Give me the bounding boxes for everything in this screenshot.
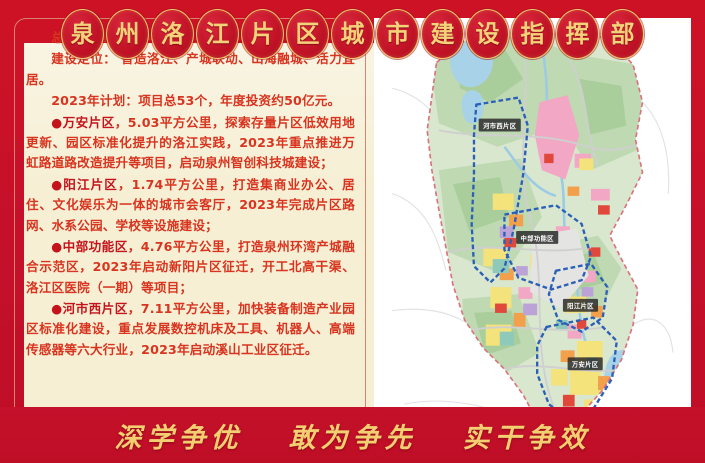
paragraph-wanan-zone: ●万安片区，5.03平方公里，探索存量片区低效用地更新、园区标准化提升的洛江实践… <box>26 113 355 174</box>
title-char-medallion: 部 <box>601 9 644 59</box>
zone-label-wanan: 万安片区 <box>568 357 603 370</box>
slogan-phrase: 深学争优 <box>115 416 243 455</box>
title-char-medallion: 江 <box>196 9 239 59</box>
slogan-phrase: 实干争效 <box>463 416 591 455</box>
poster-title: 泉 州 洛 江 片 区 城 市 建 设 指 挥 部 <box>0 8 705 60</box>
map-svg: 河市西片区 中部功能区 阳江片区 万安片区 <box>374 18 691 451</box>
title-char-medallion: 建 <box>421 9 464 59</box>
zone-label-text: 万安片区 <box>571 360 599 369</box>
zone-label-text: 河市西片区 <box>483 121 517 130</box>
zone-label-central: 中部功能区 <box>516 231 558 244</box>
paragraph-2023-plan: 2023年计划：项目总53个，年度投资约50亿元。 <box>26 91 355 111</box>
zone-label-text: 中部功能区 <box>521 233 555 242</box>
title-char-medallion: 设 <box>466 9 509 59</box>
title-char-medallion: 挥 <box>556 9 599 59</box>
content-area: 总面积：约18.64平方公里 建设定位： 智造洛江、产城联动、山海融城、活力宜居… <box>0 0 705 463</box>
title-char-medallion: 片 <box>241 9 284 59</box>
bullet-icon: ● <box>51 301 62 316</box>
title-char-medallion: 州 <box>106 9 149 59</box>
poster-root: 泉 州 洛 江 片 区 城 市 建 设 指 挥 部 总面积：约18.64平方公里… <box>0 0 705 463</box>
zone-name-label: 中部功能区 <box>63 239 128 254</box>
title-char-medallion: 指 <box>511 9 554 59</box>
bullet-icon: ● <box>51 115 62 130</box>
title-char-medallion: 市 <box>376 9 419 59</box>
paragraph-central-zone: ●中部功能区，4.76平方公里，打造泉州环湾产城融合示范区，2023年启动新阳片… <box>26 237 355 298</box>
title-char-medallion: 泉 <box>61 9 104 59</box>
slogan-phrase: 敢为争先 <box>289 416 417 455</box>
slogan-banner: 深学争优 敢为争先 实干争效 <box>0 407 705 463</box>
bullet-icon: ● <box>51 177 63 192</box>
zone-name-label: 阳江片区 <box>63 177 118 192</box>
zone-name-label: 万安片区 <box>63 115 115 130</box>
bullet-icon: ● <box>51 239 62 254</box>
title-char-medallion: 区 <box>286 9 329 59</box>
description-text-block: 总面积：约18.64平方公里 建设定位： 智造洛江、产城联动、山海融城、活力宜居… <box>14 18 366 453</box>
title-char-medallion: 洛 <box>151 9 194 59</box>
paragraph-yangjiang-zone: ●阳江片区，1.74平方公里，打造集商业办公、居住、文化娱乐为一体的城市会客厅，… <box>26 175 355 236</box>
title-char-medallion: 城 <box>331 9 374 59</box>
zone-label-yangjiang: 阳江片区 <box>563 299 598 312</box>
zone-label-heshixi: 河市西片区 <box>479 119 521 132</box>
zone-name-label: 河市西片区 <box>63 301 128 316</box>
planning-map: 河市西片区 中部功能区 阳江片区 万安片区 <box>374 18 691 451</box>
paragraph-heshixi-zone: ●河市西片区，7.11平方公里，加快装备制造产业园区标准化建设，重点发展数控机床… <box>26 299 355 360</box>
zone-label-text: 阳江片区 <box>567 301 594 310</box>
